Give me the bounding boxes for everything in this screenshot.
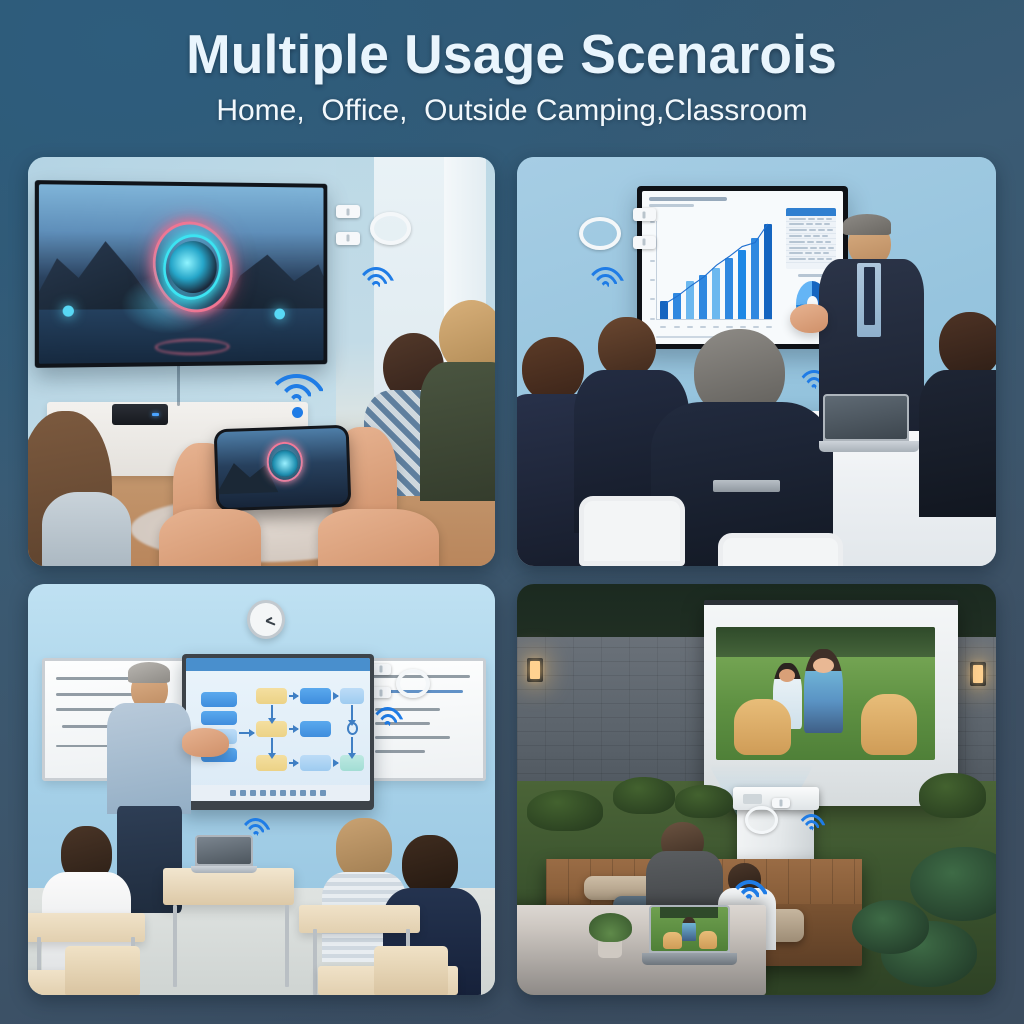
dongle-plug-bottom <box>336 232 360 245</box>
panel-classroom[interactable] <box>28 584 495 995</box>
person-girl-shirt <box>42 492 131 566</box>
flow-node-tan-top <box>256 688 287 704</box>
flow-node-blue-bottom <box>300 755 331 771</box>
wifi-icon-dongle <box>584 267 627 296</box>
projected-dog-left <box>734 699 791 755</box>
attendee-right-head <box>939 312 996 377</box>
presenter-tie <box>864 267 875 324</box>
tv-screen <box>39 184 324 364</box>
shrub-right <box>919 773 986 818</box>
laptop-screen <box>651 907 727 952</box>
chair-right <box>374 946 449 995</box>
wifi-icon-phone <box>266 374 327 417</box>
teacher-hair <box>128 662 170 683</box>
student-desk-left <box>28 913 145 942</box>
plant-foliage <box>589 913 632 942</box>
tv-orb-left <box>63 305 74 316</box>
presenter-hand <box>790 304 828 333</box>
laptop-base <box>642 953 738 965</box>
iwb-app-bar <box>186 658 369 671</box>
shrub-left-2 <box>613 777 675 814</box>
laptop-lid <box>649 905 729 954</box>
teacher-desk-leg-right <box>285 905 289 987</box>
projected-dog-right <box>861 694 918 755</box>
smartphone[interactable] <box>213 425 351 511</box>
teacher-shirt <box>107 703 191 814</box>
shrub-center <box>675 785 732 818</box>
table-row <box>786 257 836 263</box>
panel-outdoor[interactable] <box>517 584 996 995</box>
presenter-hair <box>843 214 891 234</box>
student-right-head <box>336 818 392 880</box>
shrub-left <box>527 790 604 831</box>
dongle-plug-top <box>336 205 360 218</box>
dongle-plug-bottom <box>633 236 656 249</box>
student-navy-head <box>402 835 458 897</box>
phone-screen <box>217 428 349 508</box>
wifi-icon-laptop <box>728 880 771 909</box>
hdmi-wireless-dongle[interactable] <box>336 202 415 255</box>
laptop-base <box>191 866 256 873</box>
flow-node-2 <box>201 711 238 725</box>
student-desk-right <box>299 905 420 934</box>
flow-node-end-top <box>340 688 364 704</box>
table-cable-grommet <box>713 480 780 492</box>
flow-node-blue-mid <box>300 721 331 737</box>
wall-lantern-right <box>970 662 986 686</box>
flow-node-1 <box>201 692 238 706</box>
dongle-cable-loop <box>370 212 411 245</box>
table-header-row <box>786 208 836 217</box>
panel-office[interactable] <box>517 157 996 566</box>
tv-portal <box>150 220 235 312</box>
hdmi-wireless-dongle[interactable] <box>579 206 656 259</box>
wifi-icon-dongle <box>369 707 406 734</box>
chair-center <box>718 533 843 566</box>
attendee-bearded-head <box>598 317 655 378</box>
wifi-icon-projector <box>795 814 829 839</box>
attendee-right-suit <box>919 370 996 517</box>
dongle-plug-bottom <box>371 687 390 698</box>
dongle-cable-loop <box>396 669 430 698</box>
wifi-dot <box>292 407 303 418</box>
dongle-plug-top <box>371 664 390 675</box>
chair-left <box>65 946 140 995</box>
dongle-plug <box>772 798 790 808</box>
tv-portal-core <box>169 241 217 292</box>
bar-chart <box>656 221 772 319</box>
panel-home[interactable] <box>28 157 495 566</box>
header: Multiple Usage Scenarois Home, Office, O… <box>0 0 1024 150</box>
hdmi-wireless-dongle[interactable] <box>371 662 432 707</box>
laptop[interactable] <box>642 905 738 979</box>
dongle-cable-loop <box>579 217 620 250</box>
laptop-base <box>819 441 920 453</box>
hdmi-wireless-dongle[interactable] <box>742 798 795 843</box>
media-box <box>112 404 168 424</box>
chart-x-tick-labels <box>660 326 772 328</box>
wifi-icon-dongle <box>355 267 397 296</box>
dashboard-title-placeholder <box>649 197 727 201</box>
projected-woman <box>804 649 843 734</box>
chair-left <box>579 496 684 566</box>
wall-lantern-left <box>527 658 543 682</box>
trend-line <box>656 221 772 319</box>
scenario-grid <box>28 157 996 995</box>
attendee-left-head <box>522 337 584 402</box>
teacher-desk-leg-left <box>173 905 177 987</box>
foreground-leaf-3 <box>852 900 929 953</box>
dongle-cable-loop <box>745 806 778 834</box>
page-subtitle: Home, Office, Outside Camping,Classroom <box>216 94 807 128</box>
projected-image <box>716 627 934 759</box>
laptop-lid <box>823 394 909 441</box>
page-title: Multiple Usage Scenarois <box>187 26 838 82</box>
teacher-pointing-hand <box>182 728 229 757</box>
media-box-led <box>152 413 159 416</box>
person-teen-shirt <box>420 362 495 501</box>
iwb-toolbar[interactable] <box>186 785 369 801</box>
clock-hand-minute <box>266 620 276 625</box>
data-table-widget <box>786 208 836 269</box>
wifi-icon-laptop <box>238 818 273 843</box>
forearm-right <box>318 509 439 566</box>
laptop[interactable] <box>819 394 920 459</box>
wall-mounted-tv[interactable] <box>35 180 328 368</box>
laptop-screen <box>825 396 907 439</box>
flow-node-blue-top <box>300 688 331 704</box>
dongle-plug-top <box>633 208 656 221</box>
forearm-left <box>159 509 262 566</box>
